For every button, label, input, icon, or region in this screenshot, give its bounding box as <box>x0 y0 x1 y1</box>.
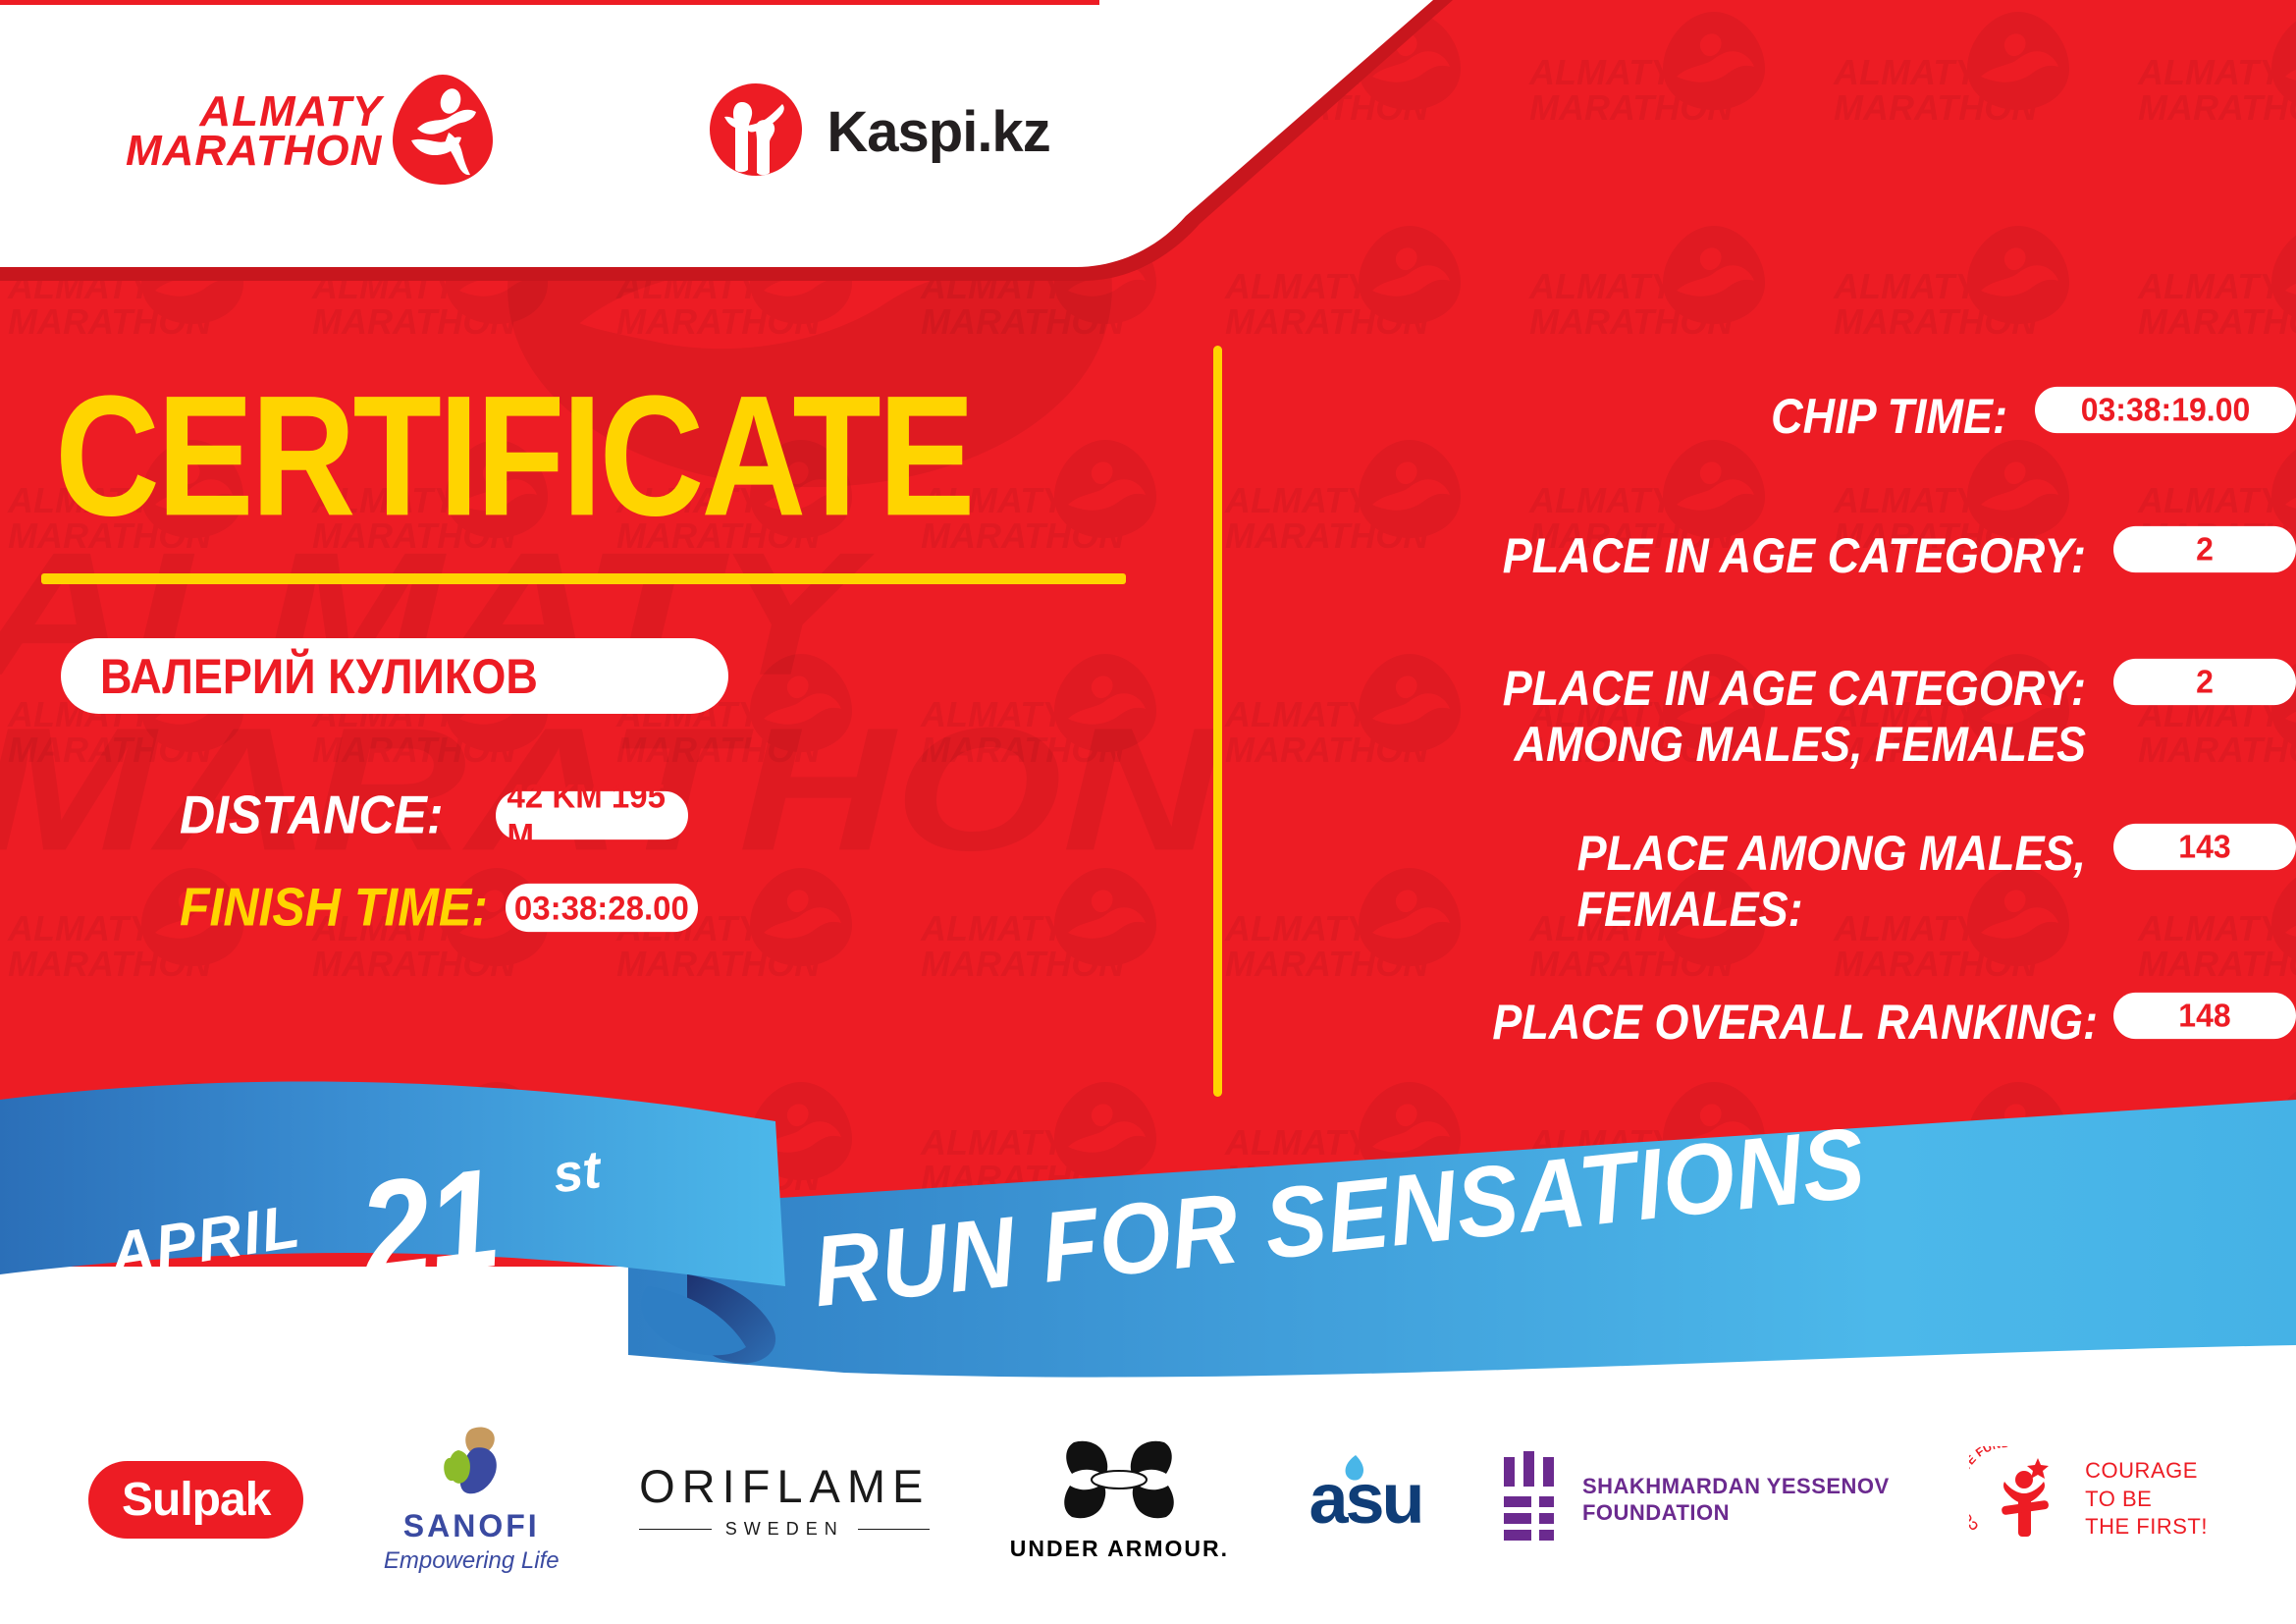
place-overall-ranking-label: PLACE OVERALL RANKING: <box>1492 994 2098 1050</box>
yessenov-foundation-wordmark: SHAKHMARDAN YESSENOV FOUNDATION <box>1582 1473 1890 1527</box>
column-divider <box>1213 346 1222 1097</box>
courage-line3: THE FIRST! <box>2085 1513 2208 1542</box>
sponsor-asu: asu <box>1308 1459 1421 1540</box>
courage-line2: TO BE <box>2085 1486 2208 1514</box>
place-in-age-category-among-value: 2 <box>2113 659 2296 705</box>
almaty-marathon-line2: MARATHON <box>126 132 382 171</box>
brand-row: ALMATY MARATHON <box>0 0 1433 263</box>
place-in-age-category-among-row: PLACE IN AGE CATEGORY: AMONG MALES, FEMA… <box>1256 660 2296 761</box>
asu-droplet-icon <box>1342 1453 1367 1487</box>
yessenov-line2: FOUNDATION <box>1582 1499 1890 1527</box>
courage-wordmark: COURAGE TO BE THE FIRST! <box>2085 1457 2208 1542</box>
yessenov-foundation-mark-icon <box>1502 1451 1561 1548</box>
finish-time-value: 03:38:28.00 <box>506 883 698 931</box>
place-in-age-category-row: PLACE IN AGE CATEGORY: 2 <box>1256 527 2296 577</box>
almaty-marathon-drop-runner-icon <box>390 72 496 192</box>
sponsor-sulpak: Sulpak <box>88 1461 303 1539</box>
sponsor-row: Sulpak SANOFI Empowering Life ORIFLAME S… <box>0 1375 2296 1624</box>
place-among-males-females-label: PLACE AMONG MALES, FEMALES: <box>1577 825 2086 938</box>
distance-label: DISTANCE: <box>180 784 444 846</box>
chip-time-value: 03:38:19.00 <box>2035 387 2296 433</box>
sanofi-tagline: Empowering Life <box>384 1547 560 1575</box>
under-armour-wordmark: UNDER ARMOUR. <box>1010 1536 1229 1562</box>
almaty-marathon-line1: ALMATY <box>126 92 382 132</box>
courage-runner-icon: CORPORATE FUND <box>1969 1446 2075 1553</box>
place-in-age-category-label: PLACE IN AGE CATEGORY: <box>1503 527 2086 583</box>
oriflame-rule-left <box>639 1529 712 1530</box>
title-underline <box>41 573 1126 584</box>
sponsor-shakhmardan-yessenov-foundation: SHAKHMARDAN YESSENOV FOUNDATION <box>1502 1451 1890 1548</box>
place-overall-ranking-row: PLACE OVERALL RANKING: 148 <box>1256 994 2296 1044</box>
oriflame-sub: SWEDEN <box>639 1519 930 1540</box>
kaspi-people-circle-icon <box>707 81 805 184</box>
athlete-name-field: ВАЛЕРИЙ КУЛИКОВ <box>61 638 728 714</box>
athlete-name-value: ВАЛЕРИЙ КУЛИКОВ <box>100 647 538 704</box>
chip-time-row: CHIP TIME: 03:38:19.00 <box>1256 388 2296 438</box>
almaty-marathon-wordmark: ALMATY MARATHON <box>126 92 382 172</box>
place-among-males-females-row: PLACE AMONG MALES, FEMALES: 143 <box>1256 825 2296 926</box>
kaspi-wordmark: Kaspi.kz <box>827 99 1049 165</box>
distance-row: DISTANCE: 42 KM 195 M <box>180 786 688 843</box>
page-title: CERTIFICATE <box>55 371 972 543</box>
oriflame-sub-text: SWEDEN <box>725 1519 844 1540</box>
under-armour-icon <box>1060 1436 1178 1528</box>
oriflame-wordmark: ORIFLAME <box>639 1459 930 1513</box>
sanofi-mark-icon <box>429 1425 513 1504</box>
courage-line1: COURAGE <box>2085 1457 2208 1486</box>
finish-time-row: FINISH TIME: 03:38:28.00 <box>180 879 698 936</box>
distance-value: 42 KM 195 M <box>496 790 688 839</box>
svg-text:CORPORATE FUND: CORPORATE FUND <box>1969 1446 2010 1534</box>
place-in-age-category-among-label: PLACE IN AGE CATEGORY: AMONG MALES, FEMA… <box>1503 660 2086 773</box>
almaty-marathon-logo: ALMATY MARATHON <box>126 72 496 192</box>
yessenov-line1: SHAKHMARDAN YESSENOV <box>1582 1473 1890 1500</box>
sulpak-logo: Sulpak <box>88 1461 303 1539</box>
certificate-page: ALMATY MARATHON ALMATY MARATHON <box>0 0 2296 1624</box>
sponsor-oriflame: ORIFLAME SWEDEN <box>639 1459 930 1540</box>
place-overall-ranking-value: 148 <box>2113 993 2296 1039</box>
chip-time-label: CHIP TIME: <box>1771 388 2007 444</box>
sponsor-sanofi: SANOFI Empowering Life <box>384 1425 560 1575</box>
place-in-age-category-value: 2 <box>2113 526 2296 572</box>
sanofi-wordmark: SANOFI <box>403 1508 540 1544</box>
finish-time-label: FINISH TIME: <box>180 876 488 939</box>
kaspi-logo: Kaspi.kz <box>707 81 1049 184</box>
sponsor-corporate-fund-courage: CORPORATE FUND COURAGE TO BE THE FIRST! <box>1969 1446 2208 1553</box>
place-among-males-females-value: 143 <box>2113 824 2296 870</box>
sponsor-under-armour: UNDER ARMOUR. <box>1010 1436 1229 1562</box>
oriflame-rule-right <box>858 1529 931 1530</box>
